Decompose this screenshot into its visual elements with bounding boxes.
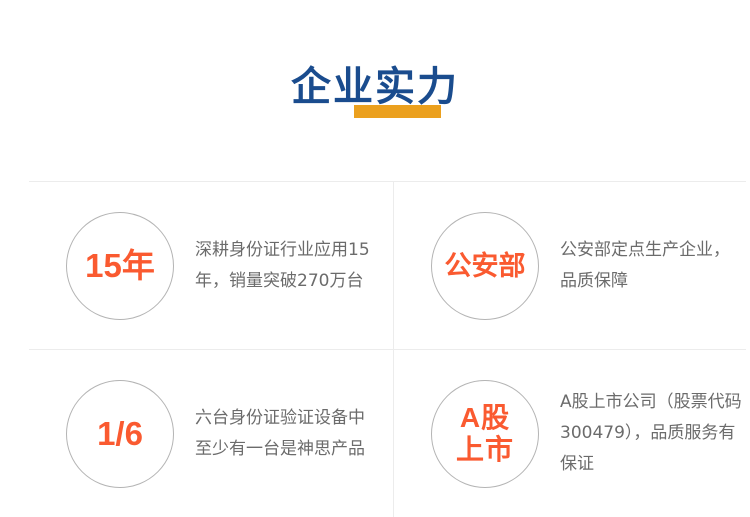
strength-badge-circle: A股 上市 — [431, 380, 539, 488]
strength-card: A股 上市 A股上市公司（股票代码300479），品质服务有保证 — [394, 350, 750, 517]
enterprise-strength-page: 企业实力 15年 深耕身份证行业应用15年，销量突破270万台 公安部 公安部定… — [0, 0, 750, 516]
strength-card-description: 公安部定点生产企业，品质保障 — [560, 235, 746, 297]
strength-badge-circle: 公安部 — [431, 212, 539, 320]
badge-label-line: 公安部 — [445, 250, 526, 282]
strength-card: 15年 深耕身份证行业应用15年，销量突破270万台 — [29, 182, 393, 349]
strength-card: 1/6 六台身份证验证设备中至少有一台是神思产品 — [29, 350, 393, 517]
section-heading: 企业实力 — [0, 58, 750, 128]
strength-card-description: A股上市公司（股票代码300479），品质服务有保证 — [560, 387, 746, 480]
strength-badge-circle: 1/6 — [66, 380, 174, 488]
badge-label-line: 1/6 — [97, 416, 143, 452]
page-title: 企业实力 — [291, 58, 459, 116]
badge-label-line: 上市 — [456, 434, 514, 466]
strength-card-grid: 15年 深耕身份证行业应用15年，销量突破270万台 公安部 公安部定点生产企业… — [29, 181, 746, 516]
badge-label-line: 15年 — [85, 248, 155, 284]
strength-card: 公安部 公安部定点生产企业，品质保障 — [394, 182, 750, 349]
strength-card-description: 六台身份证验证设备中至少有一台是神思产品 — [195, 403, 381, 465]
badge-label-line: A股 — [460, 402, 510, 434]
strength-badge-circle: 15年 — [66, 212, 174, 320]
strength-card-description: 深耕身份证行业应用15年，销量突破270万台 — [195, 235, 381, 297]
heading-inner: 企业实力 — [0, 58, 750, 116]
